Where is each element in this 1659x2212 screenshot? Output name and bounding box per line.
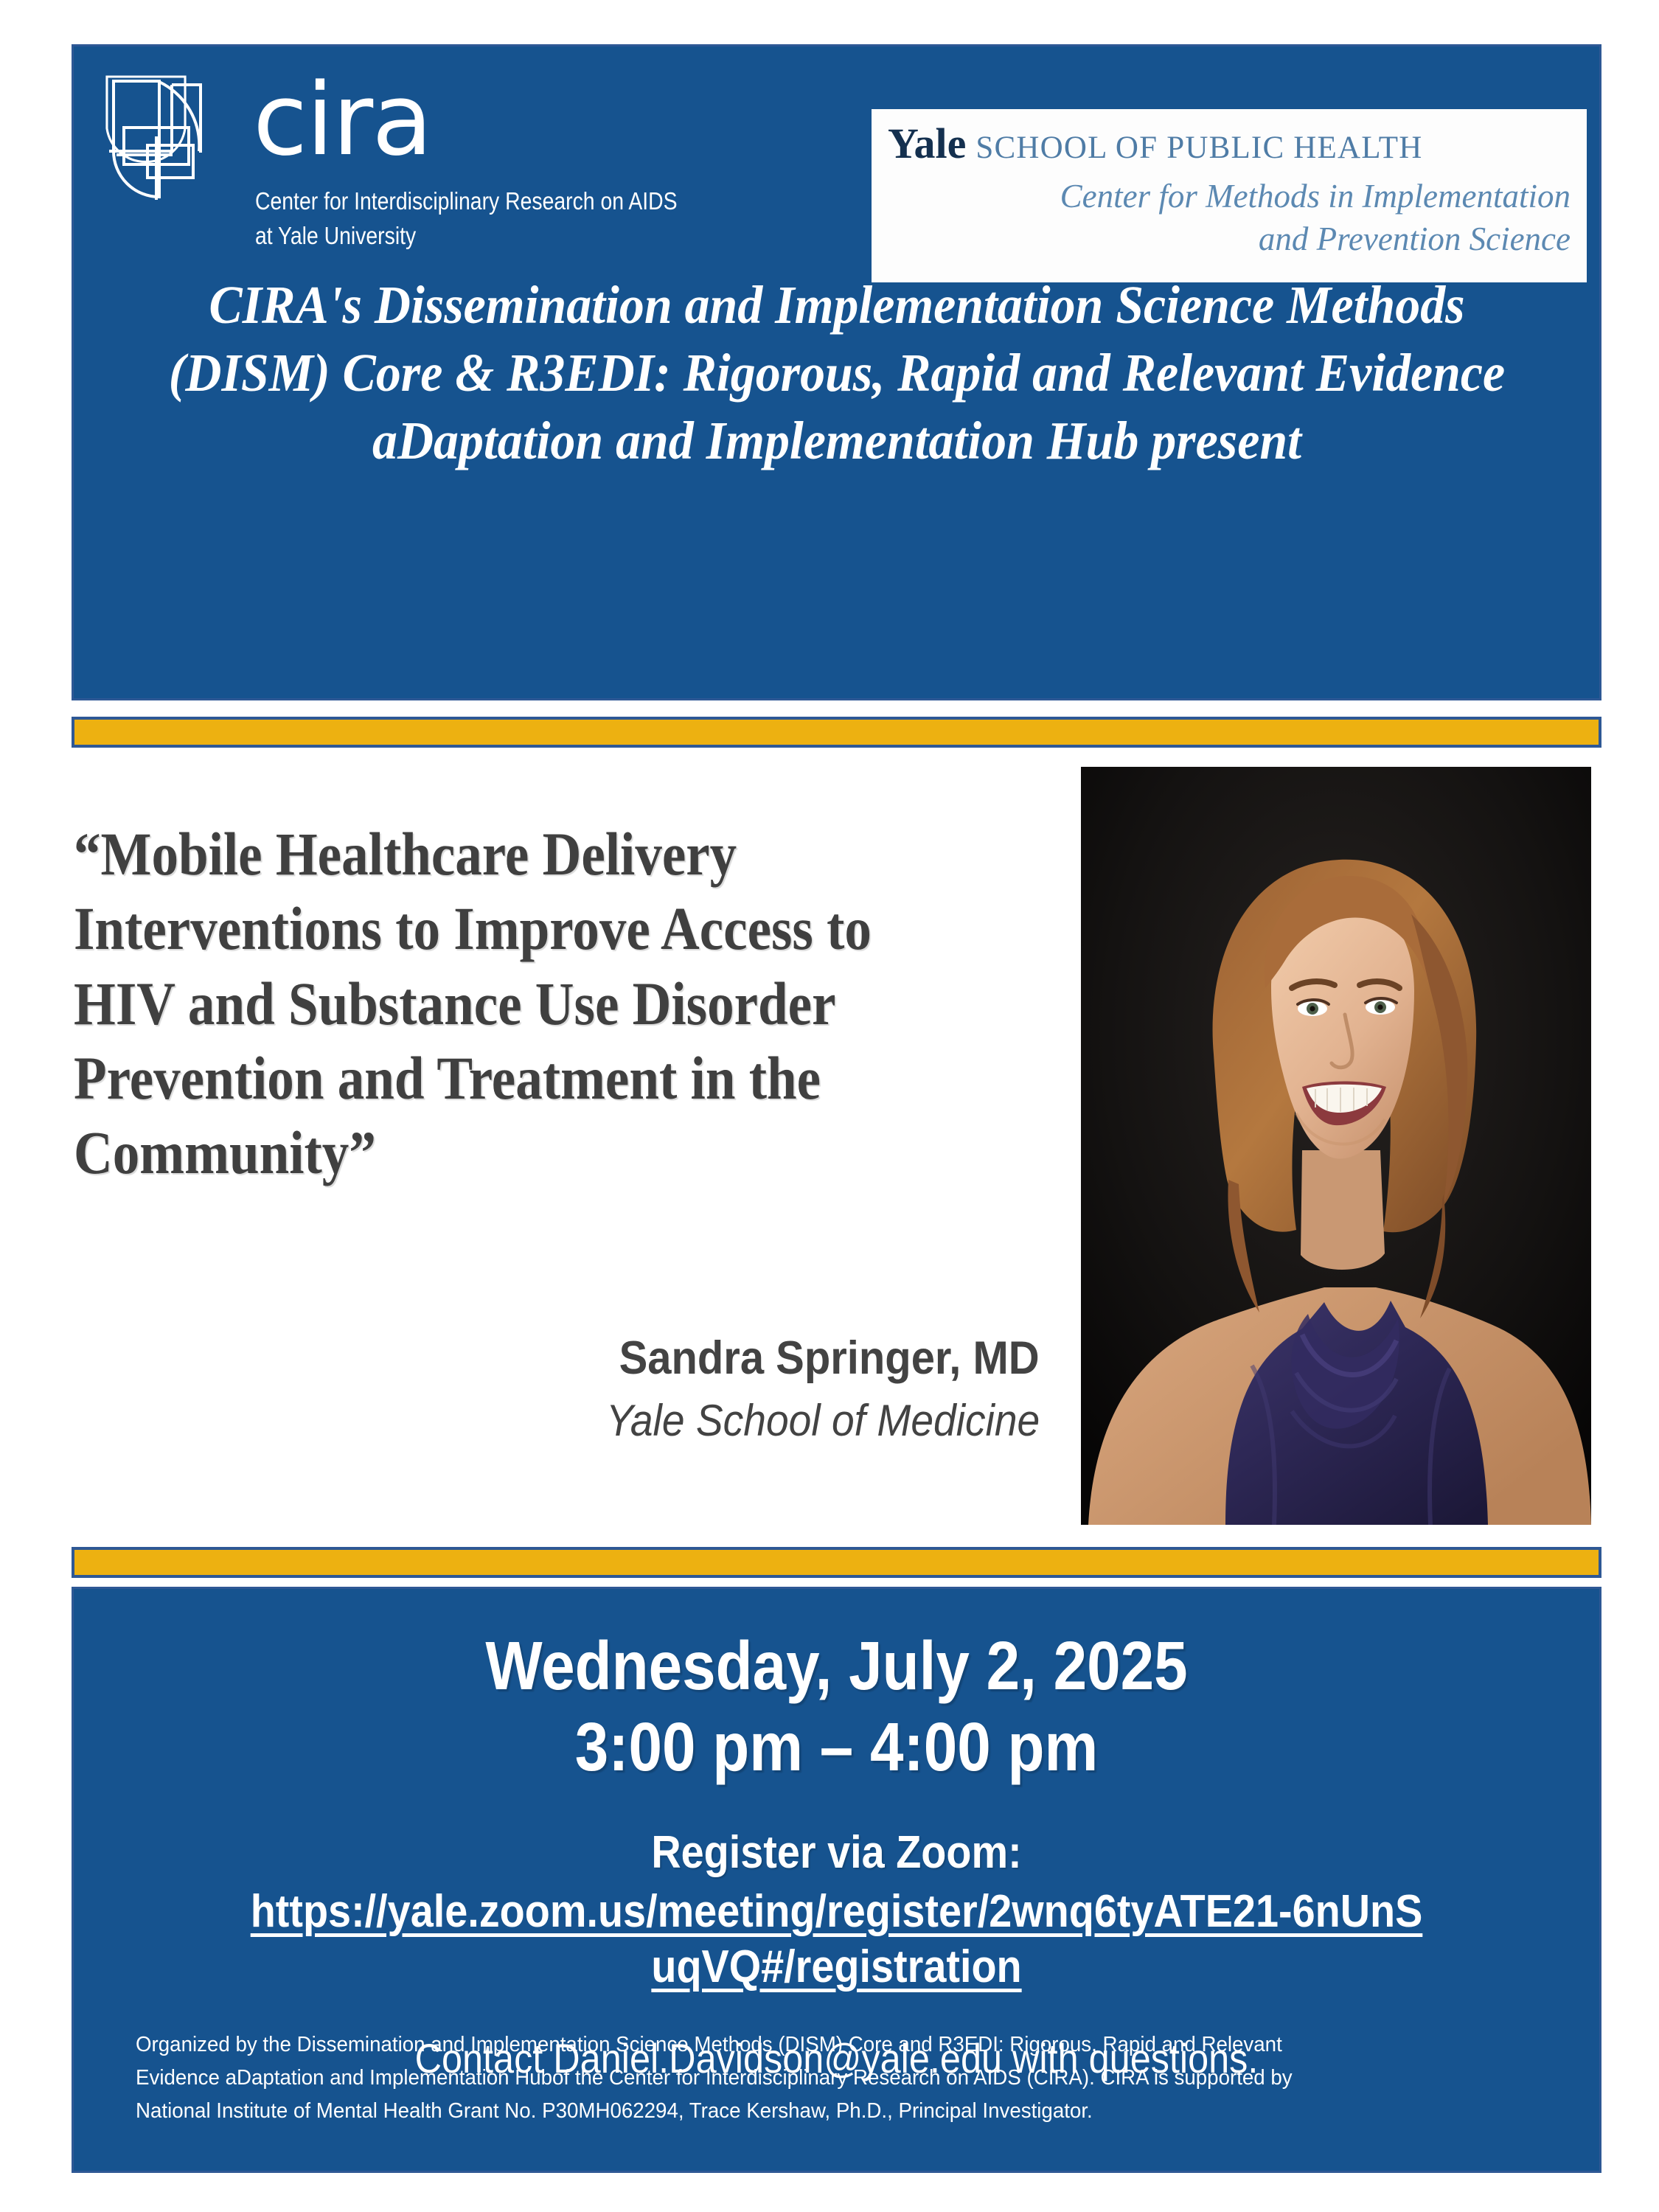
event-flyer: cira Center for Interdisciplinary Resear… <box>0 0 1659 2212</box>
speaker-block: Sandra Springer, MD Yale School of Medic… <box>74 1331 1062 1448</box>
yale-sph-logo: Yale SCHOOL OF PUBLIC HEALTH Center for … <box>872 109 1587 282</box>
organizer-fine-print: Organized by the Dissemination and Imple… <box>136 2028 1495 2128</box>
gold-divider-bottom <box>72 1547 1601 1578</box>
yale-wordmark: Yale <box>888 122 966 165</box>
presenters-title: CIRA's Dissemination and Implementation … <box>155 271 1520 475</box>
yale-school-label: SCHOOL OF PUBLIC HEALTH <box>975 132 1422 164</box>
speaker-affiliation: Yale School of Medicine <box>606 1393 1040 1448</box>
header-block: cira Center for Interdisciplinary Resear… <box>72 44 1601 700</box>
event-details-block: Wednesday, July 2, 2025 3:00 pm – 4:00 p… <box>72 1587 1601 2173</box>
register-link[interactable]: https://yale.zoom.us/meeting/register/2w… <box>150 1884 1523 1995</box>
yale-logo-topline: Yale SCHOOL OF PUBLIC HEALTH <box>888 122 1571 165</box>
speaker-portrait <box>1081 767 1591 1525</box>
logos-row: cira Center for Interdisciplinary Resear… <box>74 46 1599 268</box>
event-date-time: Wednesday, July 2, 2025 3:00 pm – 4:00 p… <box>165 1626 1508 1787</box>
speaker-name: Sandra Springer, MD <box>619 1331 1040 1387</box>
cira-shield-icon <box>102 63 234 210</box>
yale-center-label: Center for Methods in Implementation and… <box>888 175 1571 260</box>
talk-title: “Mobile Healthcare Delivery Intervention… <box>74 817 917 1190</box>
register-label: Register via Zoom: <box>150 1826 1523 1880</box>
cira-wordmark: cira <box>253 70 431 170</box>
cira-subtitle: Center for Interdisciplinary Research on… <box>255 184 678 254</box>
gold-divider-top <box>72 717 1601 748</box>
cira-logo: cira Center for Interdisciplinary Resear… <box>102 63 765 254</box>
